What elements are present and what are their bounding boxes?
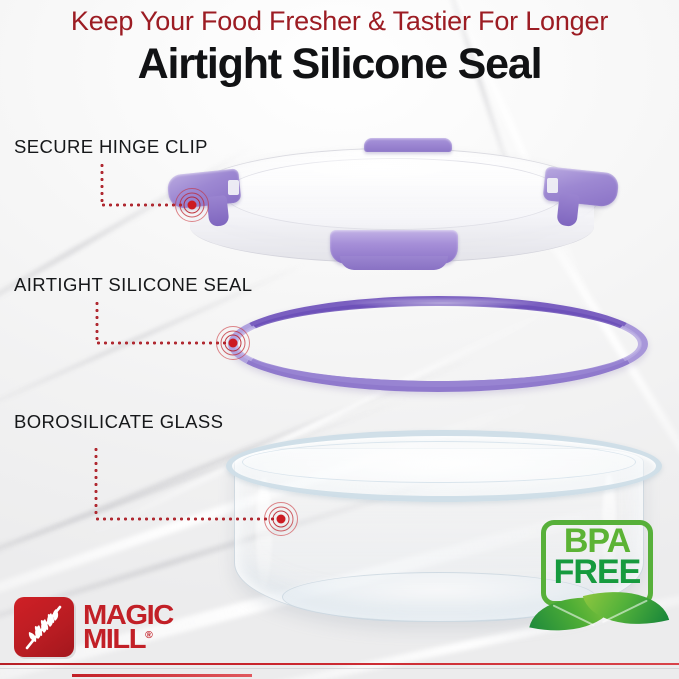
target-marker-silicone-seal [216, 326, 250, 360]
brand-name-word: MILL [83, 623, 145, 654]
target-core [188, 201, 197, 210]
hinge-notch-left [228, 180, 239, 195]
target-marker-hinge-clip [175, 188, 209, 222]
headline-block: Keep Your Food Fresher & Tastier For Lon… [0, 0, 679, 87]
leader-segment-horizontal [94, 517, 274, 521]
leader-segment-horizontal [95, 341, 229, 345]
hinge-notch-right [547, 178, 558, 193]
brand-name-line-2: MILL® [83, 627, 173, 651]
lid-clip-back [364, 138, 452, 152]
callout-label-secure-hinge-clip: SECURE HINGE CLIP [14, 136, 208, 158]
seal-highlight [348, 297, 538, 309]
lid-clip-front-lip [340, 256, 448, 270]
footer-rule-secondary [0, 668, 679, 669]
bowl-rim-inner [242, 441, 636, 483]
leader-segment-horizontal [100, 203, 186, 207]
product-infographic: Keep Your Food Fresher & Tastier For Lon… [0, 0, 679, 679]
silicone-seal-ring [228, 296, 648, 392]
brand-logo: MAGIC MILL® [14, 597, 169, 657]
lid-clip-left-tab [206, 195, 229, 227]
footer-rule [0, 663, 679, 665]
callout-label-airtight-silicone-seal: AIRTIGHT SILICONE SEAL [14, 274, 252, 296]
lid-gloss-highlight [278, 156, 478, 182]
target-core [277, 515, 286, 524]
target-marker-borosilicate-glass [264, 502, 298, 536]
tagline: Keep Your Food Fresher & Tastier For Lon… [0, 0, 679, 35]
callout-label-borosilicate-glass: BOROSILICATE GLASS [14, 411, 223, 433]
leader-segment-vertical [94, 446, 98, 514]
wheat-stalk-svg [14, 597, 74, 657]
page-title: Airtight Silicone Seal [0, 35, 679, 87]
bpa-line-2: FREE [527, 557, 667, 588]
leader-segment-vertical [100, 162, 104, 206]
brand-logo-text: MAGIC MILL® [83, 603, 169, 651]
wheat-stalk-icon [14, 597, 74, 657]
target-core [229, 339, 238, 348]
leaf-vein [602, 600, 648, 623]
registered-trademark-icon: ® [145, 632, 153, 641]
container-lid [168, 144, 618, 269]
bpa-free-badge: BPA FREE [527, 520, 667, 652]
logo-underline [72, 674, 252, 677]
seal-ring-inner [234, 301, 642, 387]
bpa-badge-text: BPA FREE [527, 526, 667, 589]
leader-segment-vertical [95, 300, 99, 344]
